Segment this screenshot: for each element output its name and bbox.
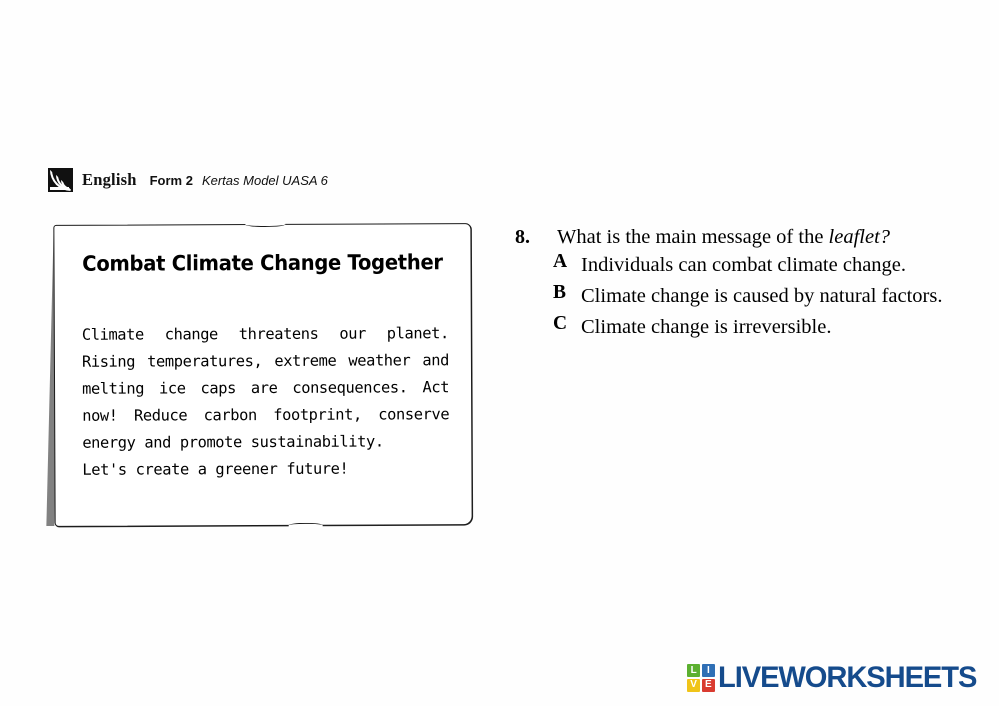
option-c-letter: C — [553, 313, 581, 335]
logo-tile-e: E — [702, 679, 715, 692]
option-a-letter: A — [553, 251, 581, 273]
option-a-text: Individuals can combat climate change. — [581, 251, 975, 280]
liveworksheets-logo[interactable]: L I V E LIVEWORKSHEETS — [687, 661, 984, 695]
option-b-letter: B — [553, 282, 581, 304]
question-stem-plain: What is the main message of the — [557, 226, 823, 248]
worksheet-header: English Form 2 Kertas Model UASA 6 — [48, 168, 328, 192]
question-number: 8. — [515, 226, 557, 249]
option-b-text: Climate change is caused by natural fact… — [581, 282, 975, 311]
option-b[interactable]: B Climate change is caused by natural fa… — [553, 282, 975, 311]
leaflet-body: Climate change threatens our planet. Ris… — [82, 320, 450, 484]
question-stem-italic: leaflet? — [829, 226, 890, 248]
option-c-text: Climate change is irreversible. — [581, 313, 975, 342]
signal-waves-icon — [48, 168, 73, 192]
question-block: 8. What is the main message of the leafl… — [515, 226, 975, 342]
option-c[interactable]: C Climate change is irreversible. — [553, 313, 975, 342]
logo-tile-v: V — [687, 679, 700, 692]
liveworksheets-logo-mark: L I V E — [687, 664, 715, 692]
option-a[interactable]: A Individuals can combat climate change. — [553, 251, 975, 280]
leaflet-title: Combat Climate Change Together — [69, 250, 456, 276]
worksheet-page: English Form 2 Kertas Model UASA 6 Comba… — [0, 0, 999, 706]
leaflet-graphic: Combat Climate Change Together Climate c… — [50, 224, 474, 529]
question-stem-text: What is the main message of the leaflet? — [557, 226, 975, 249]
leaflet-box: Combat Climate Change Together Climate c… — [53, 223, 472, 527]
leaflet-body-paragraph: Climate change threatens our planet. Ris… — [82, 324, 449, 452]
logo-tile-i: I — [702, 664, 715, 677]
header-form-level: Form 2 — [150, 173, 193, 188]
logo-tile-l: L — [687, 664, 700, 677]
question-options: A Individuals can combat climate change.… — [553, 251, 975, 342]
header-paper-title: Kertas Model UASA 6 — [202, 173, 328, 188]
liveworksheets-wordmark: LIVEWORKSHEETS — [718, 661, 976, 695]
header-subject: English — [82, 170, 137, 190]
question-stem: 8. What is the main message of the leafl… — [515, 226, 975, 249]
leaflet-body-closing: Let's create a greener future! — [82, 455, 449, 484]
